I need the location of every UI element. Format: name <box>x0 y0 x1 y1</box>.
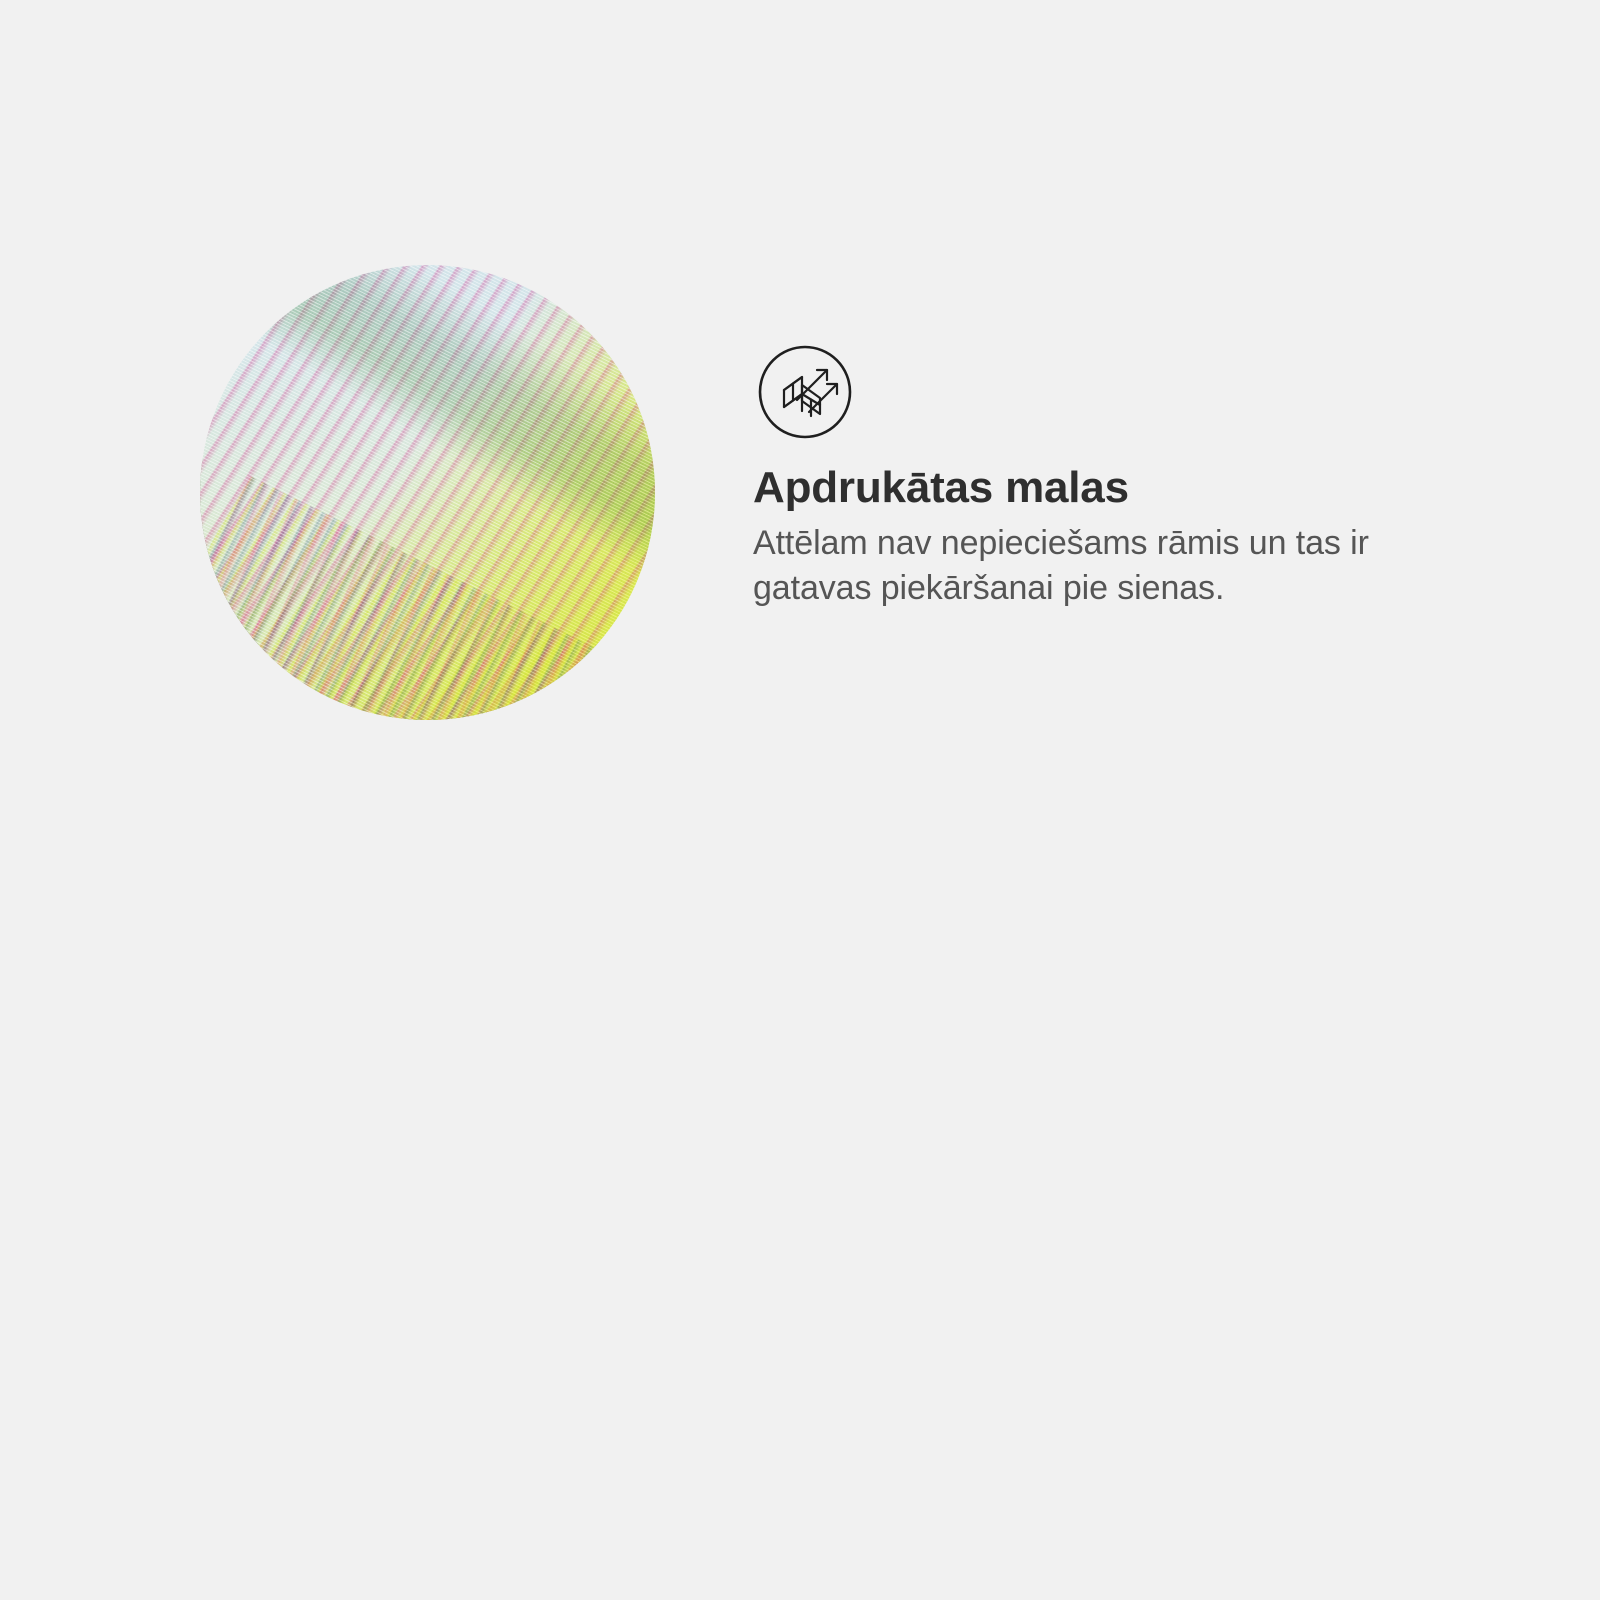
feature-block-printed-edges: Apdrukātas malas Attēlam nav nepieciešam… <box>0 0 1600 800</box>
product-features-page: Apdrukātas malas Attēlam nav nepieciešam… <box>0 0 1600 1600</box>
canvas-print-corner-photo <box>200 265 655 720</box>
media-clip <box>200 265 655 720</box>
feature-text-printed-edges: Apdrukātas malas Attēlam nav nepieciešam… <box>753 465 1493 612</box>
canvas-scene <box>200 265 655 720</box>
canvas-wrapped-edges-icon <box>757 344 853 440</box>
canvas-weave-texture <box>200 265 655 720</box>
feature-description: Attēlam nav nepieciešams rāmis un tas ir… <box>753 521 1493 611</box>
feature-block-eco-product: EKO produkts Mūsu ražošanas procesā tiek… <box>0 800 1600 1600</box>
feature-title: Apdrukātas malas <box>753 465 1493 511</box>
